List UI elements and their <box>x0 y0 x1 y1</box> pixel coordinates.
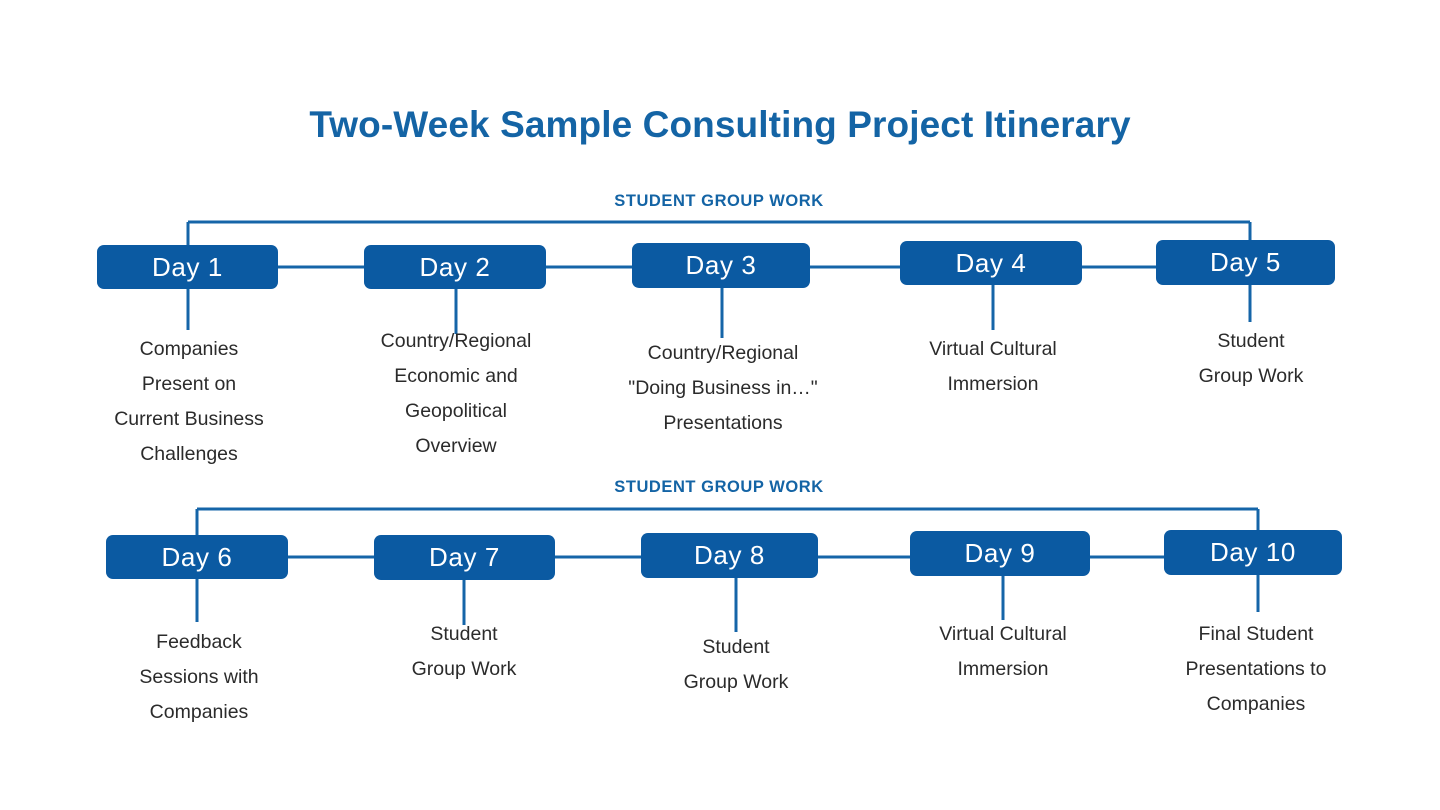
day-box-label: Day 6 <box>162 542 233 573</box>
day-box-label: Day 3 <box>686 250 757 281</box>
day-box-label: Day 7 <box>429 542 500 573</box>
day-box-label: Day 1 <box>152 252 223 283</box>
day-box-label: Day 4 <box>956 248 1027 279</box>
itinerary-diagram: Two-Week Sample Consulting Project Itine… <box>0 0 1440 810</box>
day-box-day-4[interactable]: Day 4 <box>900 241 1082 285</box>
day-box-day-8[interactable]: Day 8 <box>641 533 818 578</box>
day-box-day-10[interactable]: Day 10 <box>1164 530 1342 575</box>
day-caption-day-6: FeedbackSessions withCompanies <box>78 625 320 730</box>
day-box-label: Day 5 <box>1210 247 1281 278</box>
day-caption-day-2: Country/RegionalEconomic andGeopolitical… <box>335 324 577 464</box>
day-box-day-3[interactable]: Day 3 <box>632 243 810 288</box>
day-box-day-9[interactable]: Day 9 <box>910 531 1090 576</box>
day-box-label: Day 8 <box>694 540 765 571</box>
page-title: Two-Week Sample Consulting Project Itine… <box>0 104 1440 146</box>
day-box-label: Day 9 <box>965 538 1036 569</box>
day-caption-day-1: CompaniesPresent onCurrent BusinessChall… <box>68 332 310 472</box>
day-box-day-6[interactable]: Day 6 <box>106 535 288 579</box>
day-box-day-5[interactable]: Day 5 <box>1156 240 1335 285</box>
day-box-label: Day 10 <box>1210 537 1296 568</box>
day-caption-day-10: Final StudentPresentations toCompanies <box>1135 617 1377 722</box>
day-box-day-2[interactable]: Day 2 <box>364 245 546 289</box>
day-caption-day-8: StudentGroup Work <box>615 630 857 700</box>
day-box-label: Day 2 <box>420 252 491 283</box>
day-caption-day-9: Virtual CulturalImmersion <box>882 617 1124 687</box>
day-box-day-1[interactable]: Day 1 <box>97 245 278 289</box>
day-caption-day-3: Country/Regional"Doing Business in…"Pres… <box>596 336 850 441</box>
bracket-label-row-2: STUDENT GROUP WORK <box>519 478 919 497</box>
day-caption-day-7: StudentGroup Work <box>343 617 585 687</box>
day-box-day-7[interactable]: Day 7 <box>374 535 555 580</box>
day-caption-day-4: Virtual CulturalImmersion <box>872 332 1114 402</box>
day-caption-day-5: StudentGroup Work <box>1130 324 1372 394</box>
bracket-label-row-1: STUDENT GROUP WORK <box>519 192 919 211</box>
